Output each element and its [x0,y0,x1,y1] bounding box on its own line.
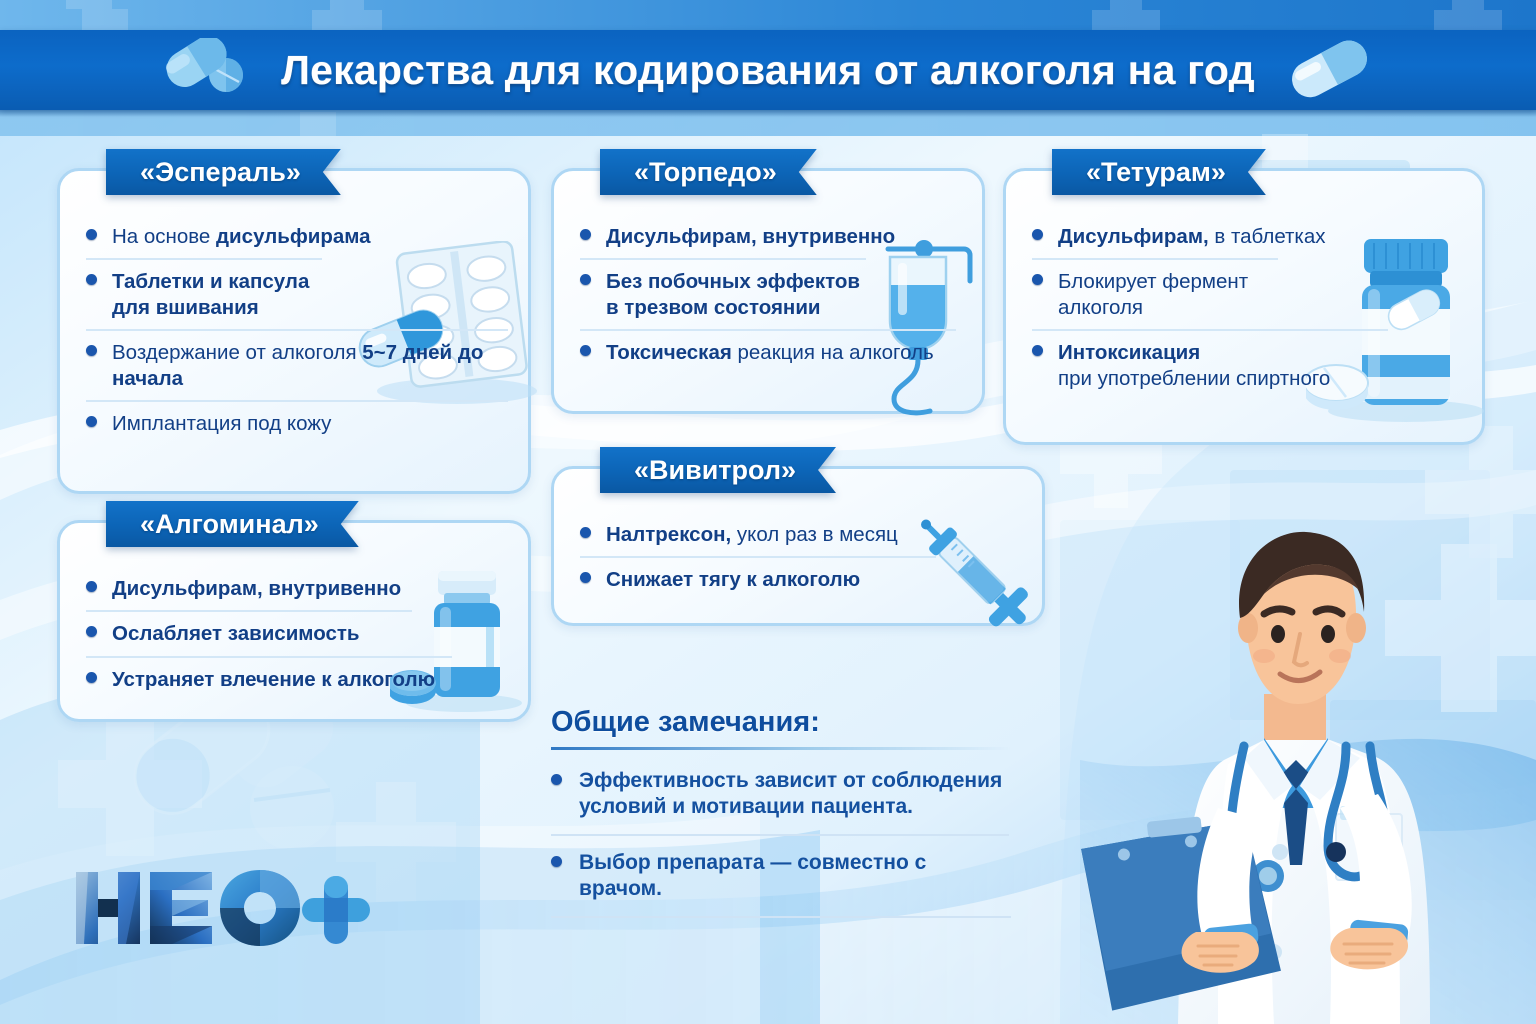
list-item: Дисульфирам, внутривенно [86,567,412,610]
notes-bottom-rule [551,916,1011,918]
capsule-and-tablet-icon [159,38,255,103]
header: Лекарства для кодирования от алкоголя на… [0,30,1536,110]
card-esperal[interactable]: «Эспераль» [57,168,531,494]
notes-title: Общие замечания: [551,706,1011,739]
list-item: Блокирует фермент алкоголя [1032,258,1278,329]
list-item: Без побочных эффектов в трезвом состояни… [580,258,866,329]
general-notes: Общие замечания: Эффективность зависит о… [551,706,1011,918]
notes-rule [551,747,1011,750]
list-item: Снижает тягу к алкоголю [580,556,936,601]
list-item: Токсическая реакция на алкоголь [580,329,956,374]
card-algominal-title: «Алгоминал» [140,509,319,540]
card-vivitrol[interactable]: «Вивитрол» [551,466,1045,626]
card-vivitrol-ribbon: «Вивитрол» [600,447,836,493]
card-teturam[interactable]: «Тетурам» [1003,168,1485,445]
list-item: Таблетки и капсула для вшивания [86,258,322,329]
card-teturam-title: «Тетурам» [1086,157,1226,188]
card-algominal-ribbon: «Алгоминал» [106,501,359,547]
list-item: Интоксикацияпри употреблении спиртного [1032,329,1388,400]
list-item: Имплантация под кожу [86,400,508,445]
card-torpedo[interactable]: «Торпедо» Дисульфирам, внутривенно Без п… [551,168,985,414]
capsule-icon [1281,38,1377,103]
list-item: Налтрексон, укол раз в месяц [580,513,936,556]
list-item: Дисульфирам, внутривенно [580,215,896,258]
list-item: Устраняет влечение к алкоголю [86,656,452,701]
list-item: Эффективность зависит от соблюдения усло… [551,754,1009,834]
card-teturam-ribbon: «Тетурам» [1052,149,1266,195]
card-algominal[interactable]: «Алгоминал» [57,520,531,722]
list-item: Дисульфирам, в таблетках [1032,215,1368,258]
card-vivitrol-title: «Вивитрол» [634,455,796,486]
doctor-with-clipboard-illustration [1078,508,1518,1024]
infographic-poster: Лекарства для кодирования от алкоголя на… [0,0,1536,1024]
list-item: На основе дисульфирама [86,215,412,258]
card-esperal-title: «Эспераль» [140,157,301,188]
notes-bullets: Эффективность зависит от соблюдения усло… [551,754,1011,916]
page-title: Лекарства для кодирования от алкоголя на… [281,47,1255,94]
card-torpedo-ribbon: «Торпедо» [600,149,817,195]
logo[interactable] [72,866,372,950]
list-item: Ослабляет зависимость [86,610,412,655]
list-item: Воздержание от алкоголя 5~7 дней до нача… [86,329,508,400]
card-torpedo-title: «Торпедо» [634,157,777,188]
list-item: Выбор препарата — совместно с врачом. [551,834,1009,916]
card-esperal-ribbon: «Эспераль» [106,149,341,195]
